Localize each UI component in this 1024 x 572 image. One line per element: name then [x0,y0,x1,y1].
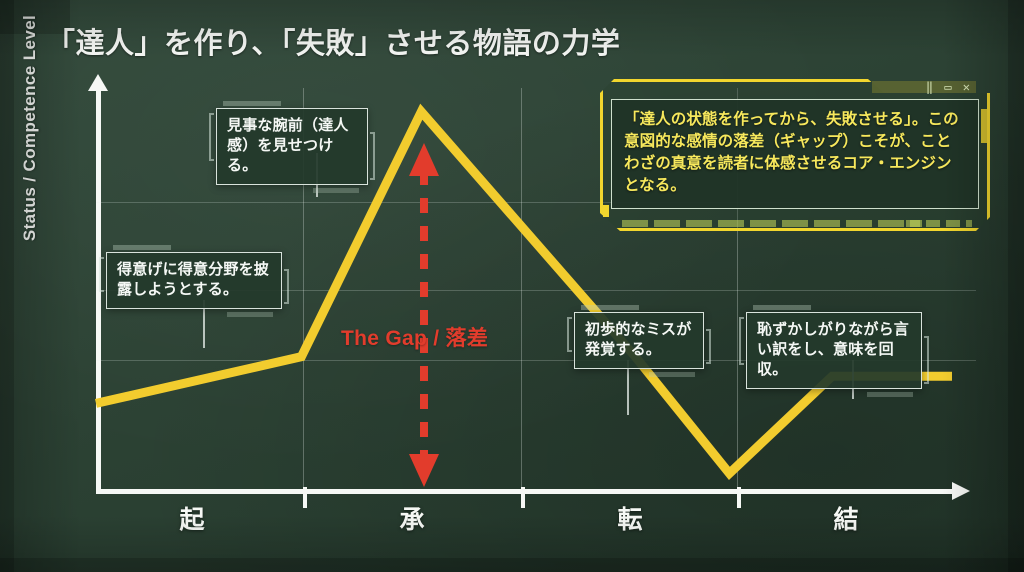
callout-body: 「達人の状態を作ってから、失敗させる」。この意図的な感情の落差（ギャップ）こそが… [611,99,979,209]
callout-text: 「達人の状態を作ってから、失敗させる」。この意図的な感情の落差（ギャップ）こそが… [624,109,966,198]
gap-label: The Gap / 落差 [341,322,488,352]
note-mastery[interactable]: 見事な腕前（達人感）を見せつける。 [216,108,368,185]
note-decoration-bottom [227,312,273,317]
note-text: 見事な腕前（達人感）を見せつける。 [227,117,349,174]
note-decoration-top [753,305,811,310]
note-bracket-left [567,317,572,352]
note-bracket-left [739,317,744,365]
note-bracket-right [924,336,929,384]
note-bracket-right [706,329,711,364]
note-bracket-right [284,269,289,304]
note-decoration-bottom [649,372,695,377]
note-decoration-top [113,245,171,250]
note-bracket-left [99,257,104,292]
note-excuse[interactable]: 恥ずかしがりながら言い訳をし、意味を回収。 [746,312,922,389]
note-decoration-bottom [867,392,913,397]
window-controls-icon[interactable]: ‖ ▭ ✕ [926,80,972,95]
callout-tick-right [981,109,987,143]
note-decoration-bottom [313,188,359,193]
callout-bottom-bar [622,220,922,227]
note-mistake[interactable]: 初歩的なミスが発覚する。 [574,312,704,369]
callout-bottom-bar-secondary [906,220,972,227]
gap-double-arrow-icon [409,143,439,487]
note-showoff[interactable]: 得意げに得意分野を披露しようとする。 [106,252,282,309]
slide-canvas: 「達人」を作り、「失敗」させる物語の力学 Status / Competence… [0,0,1024,572]
note-bracket-left [209,113,214,161]
note-text: 初歩的なミスが発覚する。 [585,321,691,358]
callout-tick-left [603,205,609,217]
note-text: 得意げに得意分野を披露しようとする。 [117,261,269,298]
note-decoration-top [223,101,281,106]
note-decoration-top [581,305,639,310]
note-bracket-right [370,132,375,180]
note-text: 恥ずかしがりながら言い訳をし、意味を回収。 [757,321,909,378]
key-insight-callout[interactable]: ‖ ▭ ✕ 「達人の状態を作ってから、失敗させる」。この意図的な感情の落差（ギャ… [600,79,990,231]
